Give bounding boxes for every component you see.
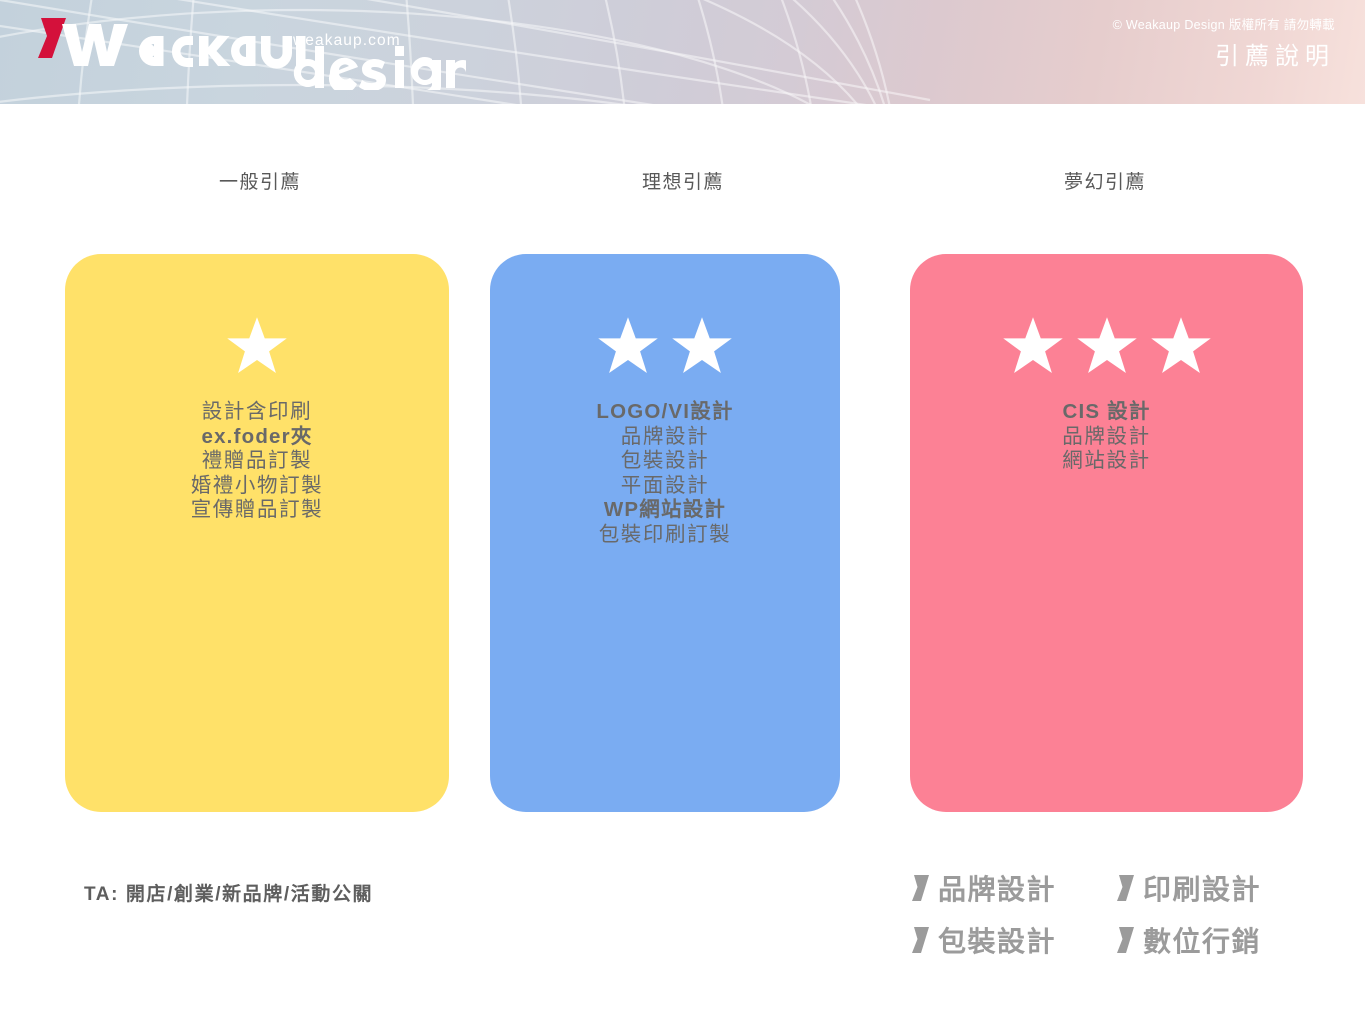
service-tag-label: 數位行銷 — [1143, 920, 1261, 960]
service-tag-label: 品牌設計 — [938, 868, 1056, 908]
tier-heading: 夢幻引薦 — [910, 170, 1300, 196]
header-banner: weakaup.com © Weakaup Design 版權所有 請勿轉載 引… — [0, 0, 1365, 104]
copyright-text: © Weakaup Design 版權所有 請勿轉載 — [1113, 14, 1335, 33]
tier-service-item: 包裝設計 — [490, 449, 840, 474]
tier-column-general: 一般引薦 設計含印刷ex.foder夾禮贈品訂製婚禮小物訂製宣傳贈品訂製 — [65, 170, 455, 812]
tier-heading: 一般引薦 — [65, 170, 455, 196]
tier-service-item: 平面設計 — [490, 474, 840, 499]
tier-column-dream: 夢幻引薦 CIS 設計品牌設計網站設計 — [910, 170, 1300, 812]
quote-mark-icon — [1117, 875, 1134, 901]
tier-heading: 理想引薦 — [488, 170, 878, 196]
quote-mark-icon — [912, 875, 929, 901]
tier-service-item: 網站設計 — [910, 449, 1303, 474]
star-icon — [1076, 316, 1138, 378]
star-icon — [671, 316, 733, 378]
service-tag[interactable]: 包裝設計 — [912, 914, 1117, 966]
service-tag[interactable]: 品牌設計 — [912, 862, 1117, 914]
logo-wordmark-weakaup — [56, 12, 306, 74]
tier-service-item: LOGO/VI設計 — [490, 400, 840, 425]
tier-card-ideal[interactable]: LOGO/VI設計品牌設計包裝設計平面設計WP網站設計包裝印刷訂製 — [490, 254, 840, 812]
service-tag-label: 印刷設計 — [1143, 868, 1261, 908]
tier-service-item: 包裝印刷訂製 — [490, 523, 840, 548]
star-rating-row — [65, 316, 449, 378]
star-icon — [597, 316, 659, 378]
star-icon — [1150, 316, 1212, 378]
tier-service-item: 宣傳贈品訂製 — [65, 498, 449, 523]
service-tag-label: 包裝設計 — [938, 920, 1056, 960]
star-rating-row — [490, 316, 840, 378]
tier-service-item: WP網站設計 — [490, 498, 840, 523]
target-audience-line: TA: 開店/創業/新品牌/活動公關 — [84, 879, 373, 906]
logo[interactable]: weakaup.com — [38, 12, 438, 90]
quote-mark-icon — [912, 927, 929, 953]
star-icon — [226, 316, 288, 378]
service-tag[interactable]: 數位行銷 — [1117, 914, 1302, 966]
tier-column-ideal: 理想引薦 LOGO/VI設計品牌設計包裝設計平面設計WP網站設計包裝印刷訂製 — [488, 170, 878, 812]
tier-service-item: 品牌設計 — [490, 425, 840, 450]
tier-card-general[interactable]: 設計含印刷ex.foder夾禮贈品訂製婚禮小物訂製宣傳贈品訂製 — [65, 254, 449, 812]
quote-mark-icon — [1117, 927, 1134, 953]
page-title: 引薦說明 — [1215, 36, 1335, 71]
tier-card-dream[interactable]: CIS 設計品牌設計網站設計 — [910, 254, 1303, 812]
tier-service-item: 品牌設計 — [910, 425, 1303, 450]
logo-subword-design — [291, 44, 466, 90]
tier-service-item: CIS 設計 — [910, 400, 1303, 425]
tier-service-item: 禮贈品訂製 — [65, 449, 449, 474]
tier-service-item: ex.foder夾 — [65, 425, 449, 450]
tier-service-item: 婚禮小物訂製 — [65, 474, 449, 499]
tier-service-list: 設計含印刷ex.foder夾禮贈品訂製婚禮小物訂製宣傳贈品訂製 — [65, 400, 449, 523]
service-tag-grid: 品牌設計印刷設計包裝設計數位行銷 — [912, 862, 1312, 966]
tier-service-list: CIS 設計品牌設計網站設計 — [910, 400, 1303, 474]
tier-service-list: LOGO/VI設計品牌設計包裝設計平面設計WP網站設計包裝印刷訂製 — [490, 400, 840, 548]
tier-service-item: 設計含印刷 — [65, 400, 449, 425]
star-icon — [1002, 316, 1064, 378]
service-tag[interactable]: 印刷設計 — [1117, 862, 1302, 914]
star-rating-row — [910, 316, 1303, 378]
